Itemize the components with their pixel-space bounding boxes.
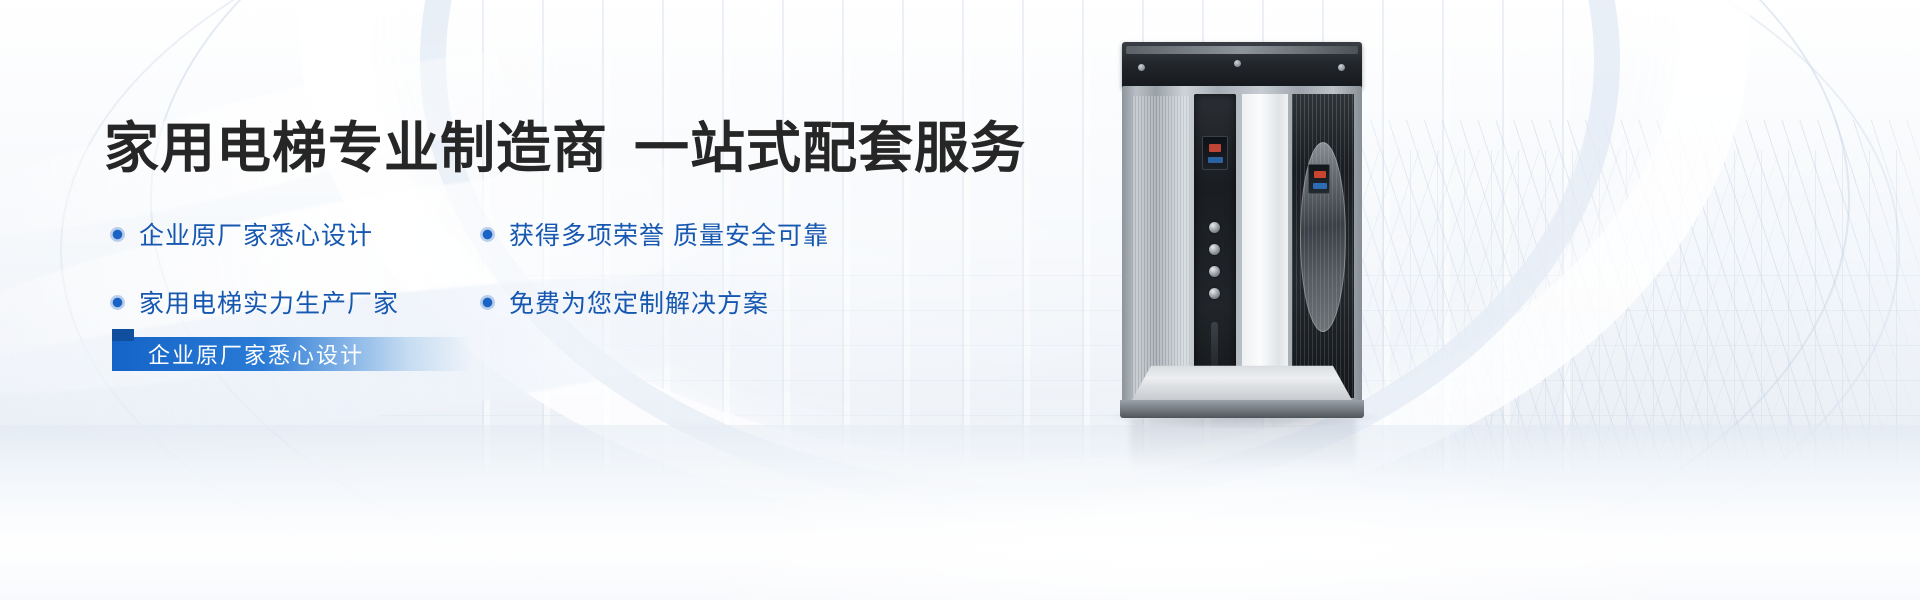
elevator-product-image xyxy=(1122,42,1362,412)
elevator-door xyxy=(1292,94,1354,398)
feature-bullet-list: 企业原厂家悉心设计 获得多项荣誉 质量安全可靠 家用电梯实力生产厂家 免费为您定… xyxy=(110,216,910,320)
floor-button xyxy=(1209,288,1220,299)
bullet-dot-icon xyxy=(480,227,495,242)
control-handrail-strip xyxy=(1211,322,1218,370)
canopy-screw xyxy=(1338,64,1345,71)
list-item: 获得多项荣誉 质量安全可靠 xyxy=(480,216,850,252)
elevator-reflection xyxy=(1130,418,1356,480)
highlight-tag-label: 企业原厂家悉心设计 xyxy=(148,338,364,370)
banner-content: 家用电梯专业制造商一站式配套服务 企业原厂家悉心设计 获得多项荣誉 质量安全可靠… xyxy=(104,0,1124,600)
bullet-label: 免费为您定制解决方案 xyxy=(509,284,769,320)
floor-button xyxy=(1209,266,1220,277)
headline-part-2: 一站式配套服务 xyxy=(634,117,1026,179)
headline-part-1: 家用电梯专业制造商 xyxy=(104,117,608,179)
bullet-dot-icon xyxy=(110,295,125,310)
control-display-screen xyxy=(1202,136,1228,170)
bullet-label: 企业原厂家悉心设计 xyxy=(139,216,373,252)
cabin-center-panel xyxy=(1242,94,1288,398)
highlight-tag: 企业原厂家悉心设计 xyxy=(112,337,472,371)
canopy-trim xyxy=(1126,46,1358,54)
door-control-display xyxy=(1308,164,1330,194)
floor-button xyxy=(1209,244,1220,255)
cabin-left-panel xyxy=(1132,96,1190,396)
promo-banner: 家用电梯专业制造商一站式配套服务 企业原厂家悉心设计 获得多项荣誉 质量安全可靠… xyxy=(0,0,1920,600)
bullet-label: 获得多项荣誉 质量安全可靠 xyxy=(509,216,829,252)
canopy-screw xyxy=(1234,60,1241,67)
floor-button xyxy=(1209,222,1220,233)
list-item: 企业原厂家悉心设计 xyxy=(110,216,480,252)
highlight-tag-wrapper: 企业原厂家悉心设计 xyxy=(112,337,472,371)
bullet-dot-icon xyxy=(110,227,125,242)
list-item: 免费为您定制解决方案 xyxy=(480,284,850,320)
list-item: 家用电梯实力生产厂家 xyxy=(110,284,480,320)
elevator-base xyxy=(1120,400,1364,418)
bullet-label: 家用电梯实力生产厂家 xyxy=(139,284,399,320)
elevator-canopy xyxy=(1122,42,1362,88)
headline: 家用电梯专业制造商一站式配套服务 xyxy=(104,117,1026,179)
cabin-floor-tile xyxy=(1132,366,1352,400)
elevator-control-panel xyxy=(1194,94,1236,398)
canopy-screw xyxy=(1138,64,1145,71)
elevator-cabin xyxy=(1122,86,1362,406)
ribbon-fold-icon xyxy=(112,329,134,341)
bullet-dot-icon xyxy=(480,295,495,310)
